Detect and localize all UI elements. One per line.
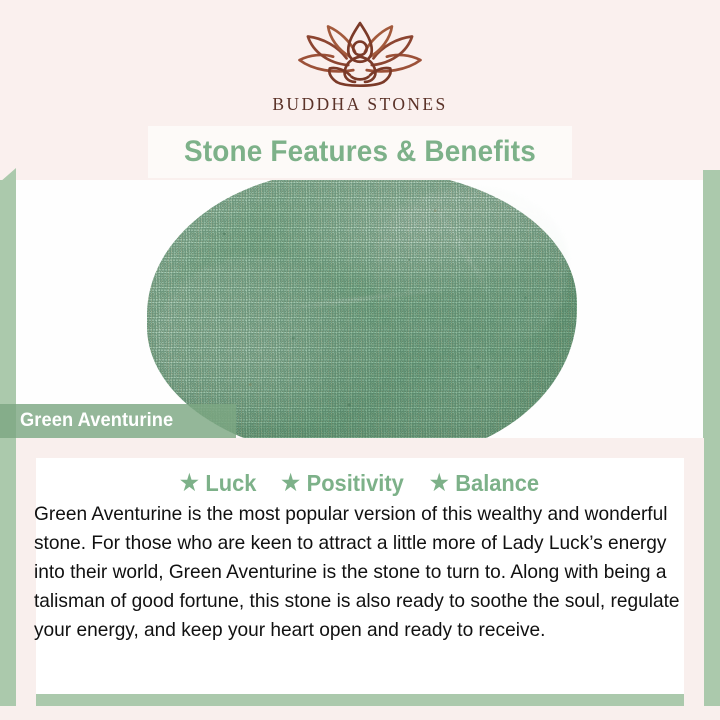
star-icon: ★ bbox=[430, 472, 449, 494]
frame-right-bar bbox=[703, 170, 720, 710]
page-title: Stone Features & Benefits bbox=[163, 126, 557, 178]
frame-inner-right-strip bbox=[684, 438, 704, 710]
keyword-positivity: ★ Positivity bbox=[281, 470, 404, 497]
frame-left-bar bbox=[0, 180, 16, 710]
brand-name: BUDDHA STONES bbox=[272, 94, 447, 115]
lotus-meditation-icon bbox=[276, 18, 444, 92]
aventurine-stone-image bbox=[147, 180, 577, 438]
stone-info-card: BUDDHA STONES Stone Features & Benefits … bbox=[0, 0, 720, 720]
stone-speckle-detail bbox=[147, 180, 577, 438]
stone-name-label: Green Aventurine bbox=[20, 410, 173, 432]
star-icon: ★ bbox=[180, 472, 199, 494]
stone-name-label-bar: Green Aventurine bbox=[0, 404, 236, 438]
keyword-list: ★ Luck ★ Positivity ★ Balance bbox=[36, 466, 684, 500]
bottom-pink-band bbox=[0, 706, 720, 720]
keyword-balance-label: Balance bbox=[456, 470, 540, 497]
frame-inner-left-strip bbox=[16, 438, 36, 710]
keyword-luck: ★ Luck bbox=[180, 470, 256, 497]
stone-photo bbox=[16, 180, 703, 438]
keyword-luck-label: Luck bbox=[205, 470, 256, 497]
brand-header: BUDDHA STONES bbox=[0, 18, 720, 115]
keyword-positivity-label: Positivity bbox=[307, 470, 404, 497]
star-icon: ★ bbox=[281, 472, 300, 494]
description-text: Green Aventurine is the most popular ver… bbox=[34, 500, 684, 645]
panel-seam bbox=[16, 438, 703, 460]
keyword-balance: ★ Balance bbox=[430, 470, 539, 497]
